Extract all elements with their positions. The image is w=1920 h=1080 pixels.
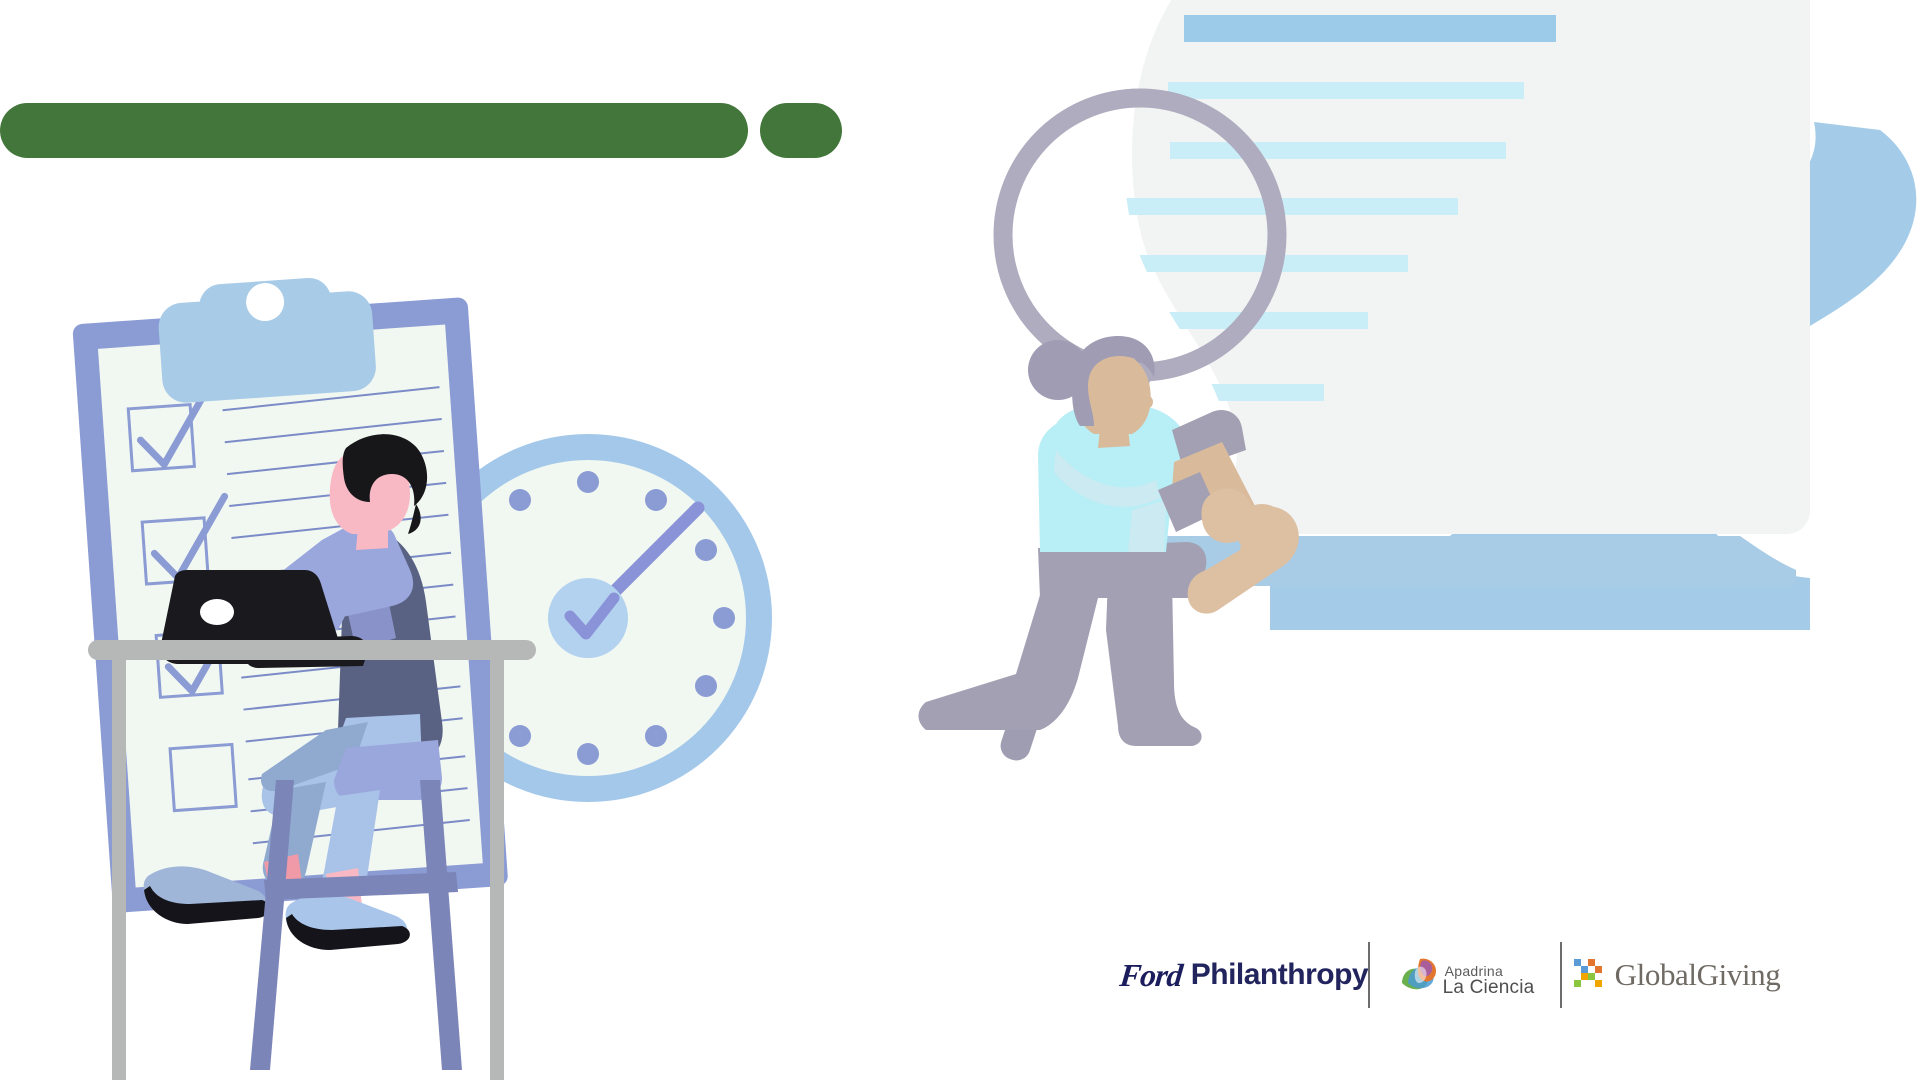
partner-logos: Ford Philanthropy Apadrina La Ciencia [1120,938,1825,1012]
clock-marker [645,725,667,747]
clock-hub [548,578,628,658]
desk-leg-right [490,656,504,1080]
apadrina-line2: La Ciencia [1443,978,1535,997]
clock-marker [577,471,599,493]
clock-marker [695,675,717,697]
globalgiving-mark-icon [1572,957,1608,993]
woman-neck [1098,428,1130,448]
apadrina-la-ciencia-logo[interactable]: Apadrina La Ciencia [1370,938,1560,1012]
clock-marker [577,743,599,765]
chair-leg-back [420,780,462,1070]
chair-legs [230,780,490,1080]
woman-ear [1139,395,1153,409]
woman-lower-thumb [1236,504,1288,556]
woman-lower-hand-group [1180,460,1380,660]
illustration-banner: Ford Philanthropy Apadrina La Ciencia [0,0,1920,1080]
ford-philanthropy-logo[interactable]: Ford Philanthropy [1120,938,1368,1012]
ford-wordmark: Ford [1118,957,1184,994]
chair-leg-front [250,780,294,1070]
desk-leg-left [112,656,126,1080]
apadrina-line1: Apadrina [1445,964,1535,978]
person-neck [356,526,388,550]
desk-top [88,640,536,660]
clock-marker [713,607,735,629]
headline-bar-short [760,103,842,158]
apadrina-mark-icon [1396,953,1440,997]
clock-marker [645,489,667,511]
headline-bar-long [0,103,748,158]
globalgiving-wordmark: GlobalGiving [1615,957,1781,993]
clock-marker [695,539,717,561]
globalgiving-logo[interactable]: GlobalGiving [1562,938,1790,1012]
laptop-logo [200,599,234,625]
ford-philanthropy-label: Philanthropy [1191,958,1368,992]
